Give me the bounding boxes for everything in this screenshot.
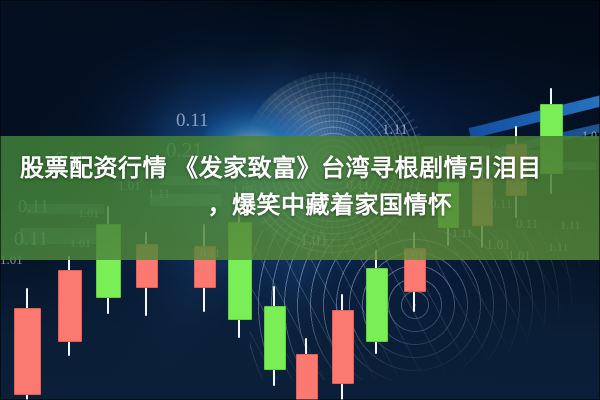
candlestick-body xyxy=(296,354,318,400)
headline-line-1: 股票配资行情 《发家致富》台湾寻根剧情引泪目 xyxy=(0,150,600,187)
candlestick-body xyxy=(332,310,354,384)
headline-text: 股票配资行情 《发家致富》台湾寻根剧情引泪目 ，爆笑中藏着家国情怀 xyxy=(0,150,600,224)
headline-line-2: ，爆笑中藏着家国情怀 xyxy=(0,187,600,224)
banner-image: 0.110.211.110.111.010.111.010.111.011.11… xyxy=(0,0,600,400)
candlestick-body xyxy=(264,306,286,370)
candlestick-body xyxy=(58,270,82,342)
price-number: 0.11 xyxy=(176,110,209,132)
candlestick-body xyxy=(14,308,41,395)
candlestick-body xyxy=(366,268,388,342)
